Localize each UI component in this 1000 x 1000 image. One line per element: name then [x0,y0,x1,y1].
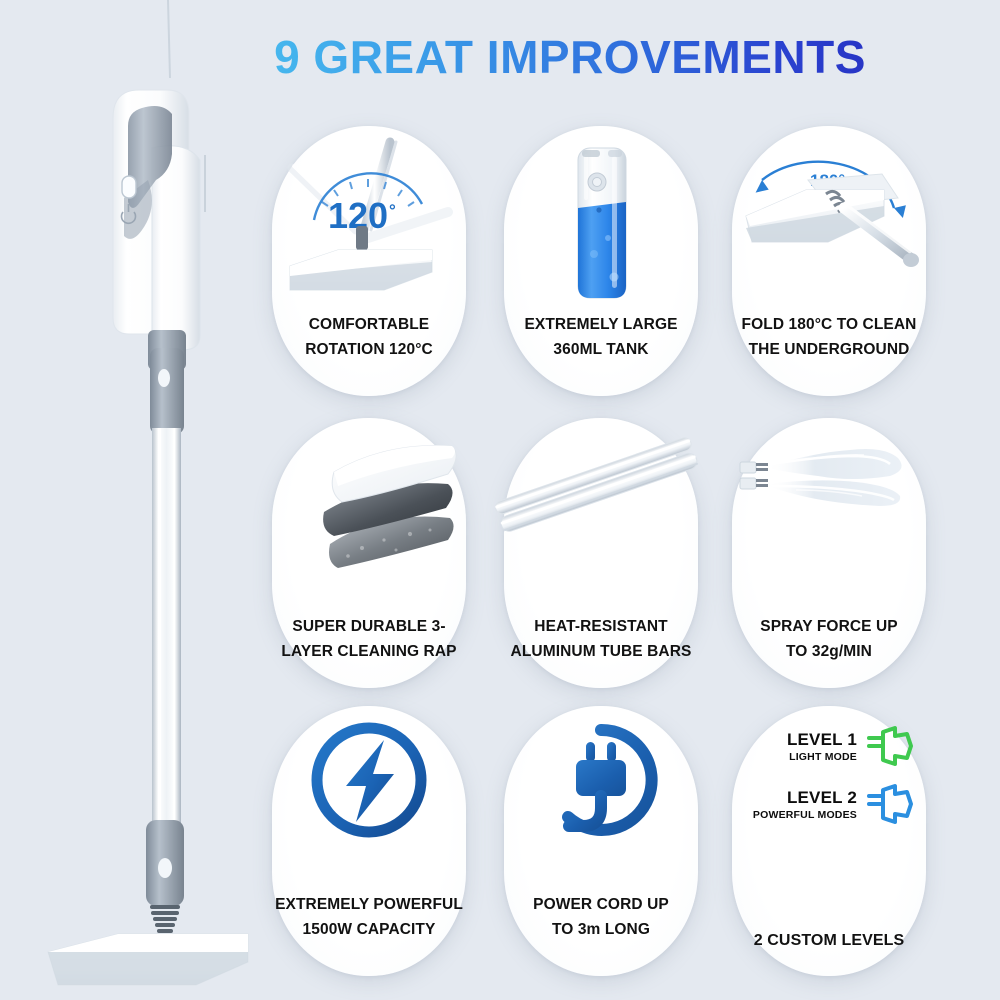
infographic-page: 9 GREAT IMPROVEMENTS [0,0,1000,1000]
feature-card-large-tank[interactable]: EXTREMELY LARGE 360ML TANK [504,126,698,396]
feature-card-power-cord[interactable]: POWER CORD UP TO 3m LONG [504,706,698,976]
airflow-blue-icon [865,782,915,826]
level-title: LEVEL 1 [749,730,857,750]
lightning-bolt-circle-icon [272,714,466,894]
page-title: 9 GREAT IMPROVEMENTS [260,30,880,84]
hanging-cord [168,0,170,78]
lower-release-button[interactable] [158,858,172,878]
level-title: LEVEL 2 [749,788,857,808]
feature-caption: 2 CUSTOM LEVELS [724,928,934,953]
feature-card-three-layer-pad[interactable]: SUPER DURABLE 3- LAYER CLEANING RAP [272,418,466,688]
feature-caption: FOLD 180°C TO CLEAN THE UNDERGROUND [724,312,934,362]
levels-list: LEVEL 1 LIGHT MODE LEVEL 2 POWERFUL MODE… [738,724,926,826]
svg-text:°: ° [389,201,396,220]
level-subtitle: POWERFUL MODES [749,809,857,821]
level-row[interactable]: LEVEL 1 LIGHT MODE [738,724,926,768]
feature-caption: EXTREMELY POWERFUL 1500W CAPACITY [264,892,474,942]
aluminum-pole [152,428,181,828]
feature-caption: EXTREMELY LARGE 360ML TANK [496,312,706,362]
feature-card-spray-force[interactable]: SPRAY FORCE UP TO 32g/MIN [732,418,926,688]
mop-rotation-120-icon: 120 ° [272,134,466,314]
power-button[interactable] [122,176,136,198]
product-image [0,0,270,1000]
airflow-green-icon [865,724,915,768]
feature-caption: POWER CORD UP TO 3m LONG [496,892,706,942]
feature-caption: HEAT-RESISTANT ALUMINUM TUBE BARS [496,614,706,664]
features-grid: 120 ° COMFORTABLE ROTATION 120°C [272,126,944,976]
feature-card-fold-180[interactable]: 180° [732,126,926,396]
three-layer-pad-icon [272,426,466,606]
tube-upper-gray [150,348,184,434]
mop-fold-180-icon: 180° [732,134,926,314]
spray-nozzle-mist-icon [732,426,926,606]
power-plug-cord-icon [504,714,698,894]
feature-card-powerful-motor[interactable]: EXTREMELY POWERFUL 1500W CAPACITY [272,706,466,976]
feature-card-custom-levels[interactable]: LEVEL 1 LIGHT MODE LEVEL 2 POWERFUL MODE… [732,706,926,976]
aluminum-tube-icon [504,426,698,606]
feature-caption: COMFORTABLE ROTATION 120°C [264,312,474,362]
water-tank-icon [504,134,698,314]
feature-card-aluminum-tube[interactable]: HEAT-RESISTANT ALUMINUM TUBE BARS [504,418,698,688]
level-subtitle: LIGHT MODE [749,751,857,763]
mop-head [48,934,248,985]
tube-release-button[interactable] [158,369,170,387]
feature-caption: SUPER DURABLE 3- LAYER CLEANING RAP [264,614,474,664]
feature-caption: SPRAY FORCE UP TO 32g/MIN [724,614,934,664]
level-row[interactable]: LEVEL 2 POWERFUL MODES [738,782,926,826]
swivel-joint [150,905,180,933]
feature-card-comfortable-rotation[interactable]: 120 ° COMFORTABLE ROTATION 120°C [272,126,466,396]
